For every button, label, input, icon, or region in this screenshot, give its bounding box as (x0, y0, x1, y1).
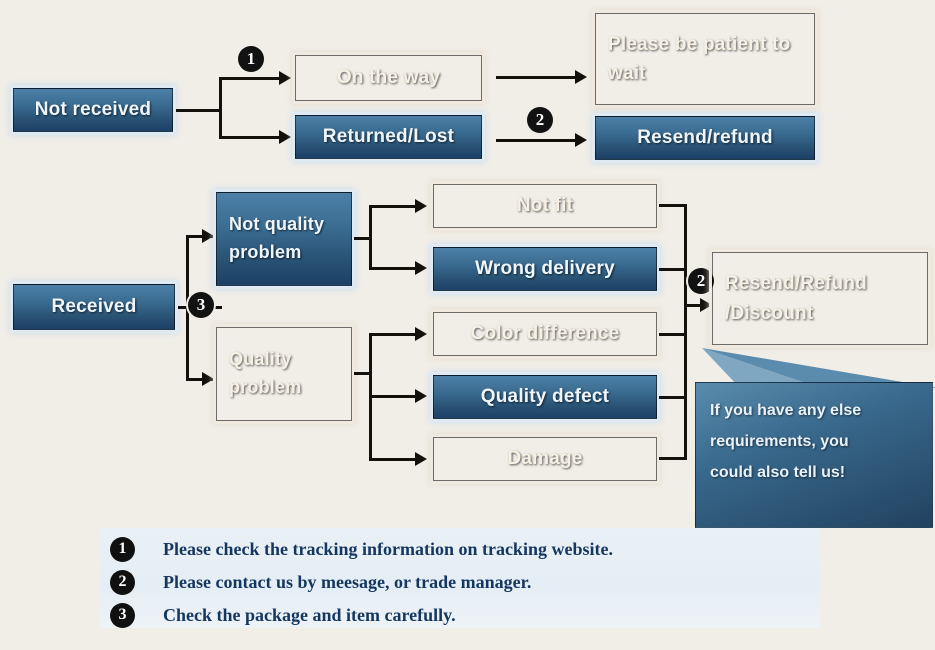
node-please-be-patient-to-wait[interactable]: Please be patient to wait (595, 13, 815, 105)
connector-stub-wrong-delivery (659, 268, 687, 271)
connector-returned-to-resend (496, 139, 575, 142)
flowchart-canvas: Not received 1 On the way Returned/Lost … (0, 0, 935, 650)
node-returned-lost[interactable]: Returned/Lost (295, 115, 482, 159)
node-resend-refund[interactable]: Resend/refund (595, 116, 815, 160)
connector-not-received-trunk (176, 109, 222, 112)
legend-badge-1-icon: 1 (110, 537, 135, 562)
legend-badge-2-icon: 2 (110, 570, 135, 595)
node-not-quality-problem[interactable]: Not quality problem (216, 192, 352, 286)
connector-stub-quality-defect (659, 396, 687, 399)
arrow-to-returned-lost (279, 130, 291, 144)
connector-stub-damage (659, 457, 687, 460)
connector-to-wrong-delivery (369, 267, 415, 270)
connector-to-not-fit (369, 205, 415, 208)
step-badge-3: 3 (188, 292, 214, 318)
connector-on-the-way-to-wait (496, 76, 575, 79)
legend-badge-3-icon: 3 (110, 603, 135, 628)
callout-line-2: requirements, you (710, 426, 918, 457)
arrow-returned-to-resend (575, 133, 587, 147)
connector-stub-color-difference (659, 333, 687, 336)
legend-text-2: Please contact us by meesage, or trade m… (163, 572, 531, 593)
node-quality-problem[interactable]: Quality problem (216, 327, 352, 421)
node-quality-defect[interactable]: Quality defect (433, 375, 657, 419)
arrow-to-on-the-way (279, 71, 291, 85)
arrow-to-wrong-delivery (415, 261, 427, 275)
legend-item-1: 1 Please check the tracking information … (110, 534, 613, 564)
legend-text-3: Check the package and item carefully. (163, 605, 456, 626)
connector-stub-not-fit (659, 204, 687, 207)
arrow-to-quality-defect (415, 389, 427, 403)
node-damage[interactable]: Damage (433, 437, 657, 481)
connector-not-received-split (219, 77, 222, 139)
arrow-collector-to-result (700, 298, 712, 312)
node-resend-refund-discount[interactable]: Resend/Refund /Discount (712, 252, 928, 345)
step-badge-2-top: 2 (527, 107, 553, 133)
arrow-to-not-fit (415, 199, 427, 213)
arrow-to-quality (202, 372, 214, 386)
connector-to-color-difference (369, 333, 415, 336)
step-badge-2-bottom: 2 (688, 268, 714, 294)
arrow-to-not-quality (202, 229, 214, 243)
callout-extra-requirements: If you have any else requirements, you c… (695, 382, 933, 528)
connector-to-returned-lost (219, 136, 279, 139)
legend-text-1: Please check the tracking information on… (163, 539, 613, 560)
arrow-to-damage (415, 452, 427, 466)
connector-to-on-the-way (219, 77, 279, 80)
node-not-received[interactable]: Not received (13, 88, 173, 132)
arrow-on-the-way-to-wait (575, 70, 587, 84)
step-badge-1-top: 1 (238, 46, 264, 72)
connector-to-damage (369, 458, 415, 461)
connector-collector-trunk (684, 204, 687, 460)
callout-line-3: could also tell us! (710, 457, 918, 488)
callout-line-1: If you have any else (710, 395, 918, 426)
node-received[interactable]: Received (13, 284, 175, 330)
legend-panel: 1 Please check the tracking information … (100, 528, 820, 628)
legend-item-3: 3 Check the package and item carefully. (110, 600, 456, 630)
legend-item-2: 2 Please contact us by meesage, or trade… (110, 567, 531, 597)
node-on-the-way[interactable]: On the way (295, 55, 482, 101)
node-color-difference[interactable]: Color difference (433, 312, 657, 356)
node-not-fit[interactable]: Not fit (433, 184, 657, 228)
connector-to-quality-defect (369, 395, 415, 398)
node-wrong-delivery[interactable]: Wrong delivery (433, 247, 657, 291)
connector-not-quality-split (369, 205, 372, 270)
arrow-to-color-difference (415, 327, 427, 341)
